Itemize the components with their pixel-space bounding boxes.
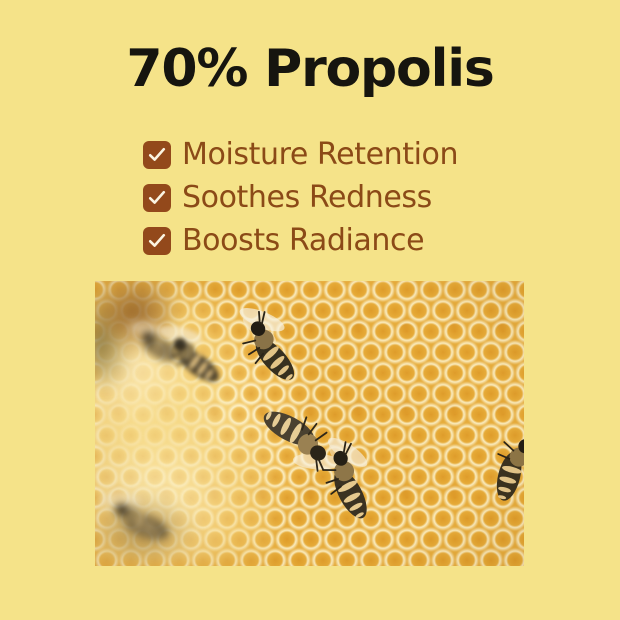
feature-label: Boosts Radiance <box>182 226 424 256</box>
photo-content <box>95 281 524 566</box>
feature-label: Soothes Redness <box>182 183 432 213</box>
photo-vignette <box>95 281 524 566</box>
list-item: Boosts Radiance <box>143 219 543 262</box>
checkbox-checked-icon <box>143 141 171 169</box>
page-title: 70% Propolis <box>0 42 620 97</box>
honeycomb-photo <box>95 281 524 566</box>
feature-list: Moisture Retention Soothes Redness Boost… <box>143 133 543 262</box>
list-item: Soothes Redness <box>143 176 543 219</box>
checkbox-checked-icon <box>143 184 171 212</box>
infographic-page: 70% Propolis Moisture Retention Soothes … <box>0 0 620 620</box>
feature-label: Moisture Retention <box>182 140 458 170</box>
list-item: Moisture Retention <box>143 133 543 176</box>
checkbox-checked-icon <box>143 227 171 255</box>
